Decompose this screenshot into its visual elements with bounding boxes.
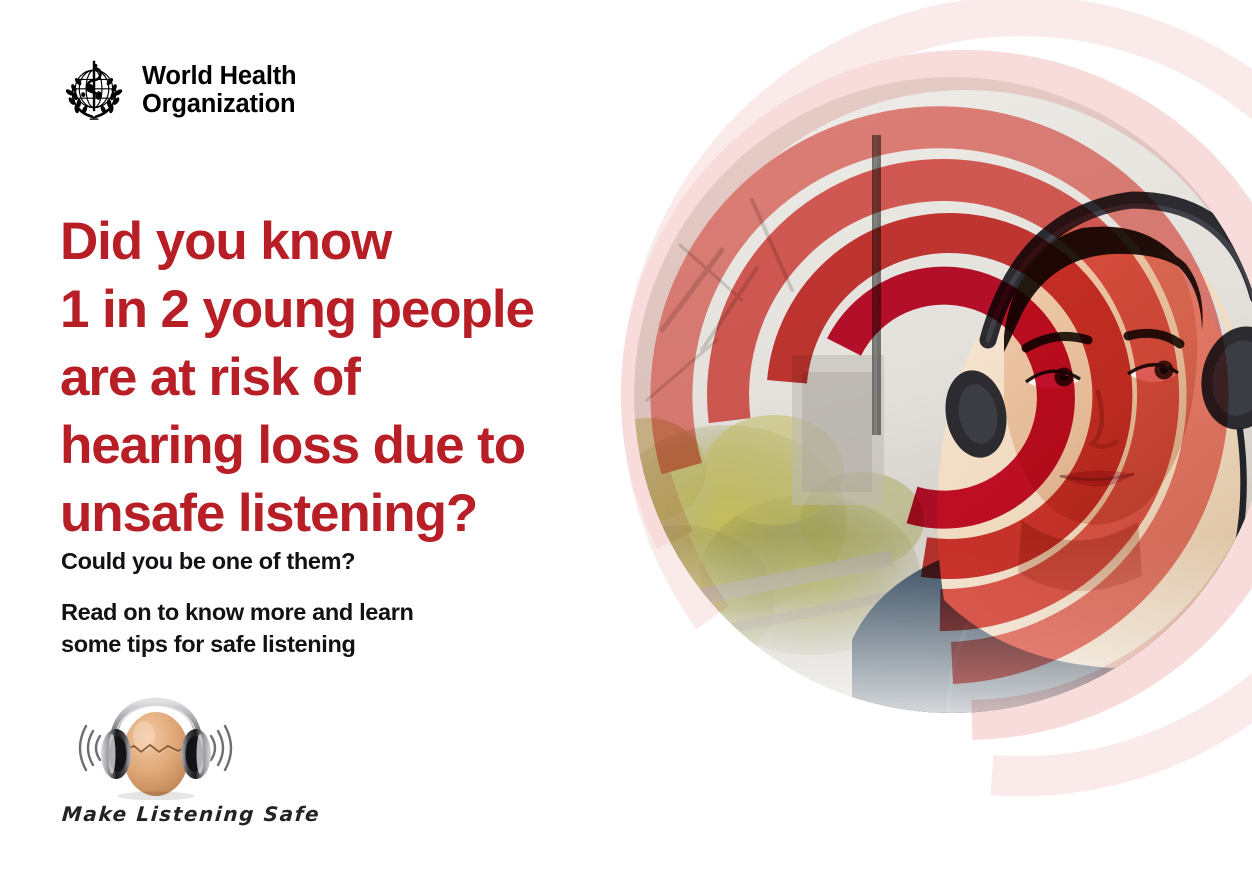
who-wordmark: World Health Organization bbox=[142, 63, 296, 118]
egg-headphones-icon bbox=[68, 692, 243, 800]
who-logo: World Health Organization bbox=[58, 55, 296, 127]
who-emblem-icon bbox=[58, 55, 130, 127]
headline-line-5: unsafe listening? bbox=[60, 480, 650, 548]
subheading-question: Could you be one of them? bbox=[61, 546, 355, 576]
page-title: Did you know 1 in 2 young people are at … bbox=[60, 208, 650, 548]
poster-canvas: World Health Organization Did you know 1… bbox=[0, 0, 1252, 881]
headline-line-2: 1 in 2 young people bbox=[60, 276, 650, 344]
make-listening-safe-wordmark: Make Listening Safe bbox=[61, 802, 269, 826]
headline-line-3: are at risk of bbox=[60, 344, 650, 412]
headline-line-1: Did you know bbox=[60, 208, 650, 276]
call-to-action-text: Read on to know more and learn some tips… bbox=[61, 596, 531, 660]
call-to-action-line-1: Read on to know more and learn bbox=[61, 596, 531, 628]
headline-line-4: hearing loss due to bbox=[60, 412, 650, 480]
content-column: World Health Organization Did you know 1… bbox=[0, 0, 660, 881]
call-to-action-line-2: some tips for safe listening bbox=[61, 628, 531, 660]
make-listening-safe-logo: Make Listening Safe bbox=[58, 692, 268, 842]
